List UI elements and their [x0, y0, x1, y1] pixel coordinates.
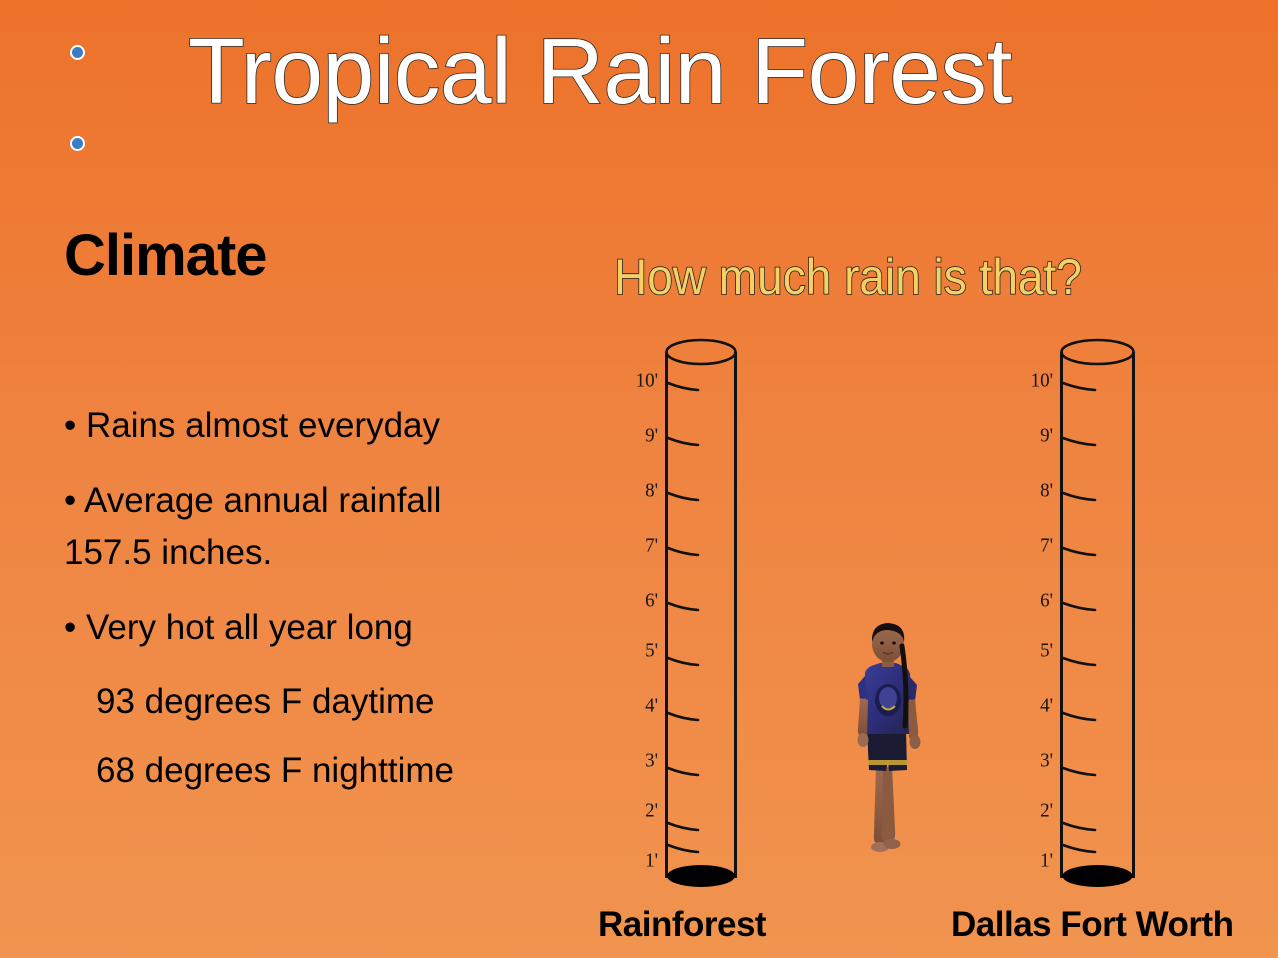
cylinder-graphic	[1060, 338, 1135, 890]
tick-label-10ft: 10'	[620, 369, 658, 392]
tick-label-6ft: 6'	[620, 589, 658, 612]
rainforest-caption: Rainforest	[598, 905, 766, 945]
tick-label-2ft: 2'	[1013, 799, 1053, 822]
tick-label-7ft: 7'	[1013, 534, 1053, 557]
tick-label-6ft: 6'	[1013, 589, 1053, 612]
list-item: • Very hot all year long	[64, 602, 604, 655]
dallas-fort-worth-caption: Dallas Fort Worth	[951, 905, 1234, 945]
tick-label-9ft: 9'	[620, 424, 658, 447]
tick-label-8ft: 8'	[1013, 479, 1053, 502]
rain-question-heading: How much rain is that?	[614, 248, 1082, 306]
slide-tropical-rain-forest: Tropical Rain Forest Climate • Rains alm…	[0, 0, 1278, 958]
climate-bullet-list: • Rains almost everyday • Average annual…	[64, 400, 604, 813]
page-title: Tropical Rain Forest	[188, 22, 1188, 121]
tick-label-4ft: 4'	[1013, 694, 1053, 717]
tick-label-5ft: 5'	[620, 639, 658, 662]
tick-label-10ft: 10'	[1013, 369, 1053, 392]
rainforest-cylinder: 10' 9' 8' 7' 6' 5' 4' 3' 2' 1'	[665, 338, 737, 890]
child-photo	[840, 618, 936, 866]
list-item: • Rains almost everyday	[64, 400, 604, 453]
tick-label-1ft: 1'	[1013, 849, 1053, 872]
tick-label-3ft: 3'	[620, 749, 658, 772]
list-item: 68 degrees F nighttime	[96, 745, 604, 798]
climate-heading: Climate	[64, 222, 267, 289]
tick-label-5ft: 5'	[1013, 639, 1053, 662]
tick-label-2ft: 2'	[620, 799, 658, 822]
title-bullet-icon-2	[70, 136, 85, 151]
tick-label-7ft: 7'	[620, 534, 658, 557]
cylinder-graphic	[665, 338, 737, 890]
tick-label-8ft: 8'	[620, 479, 658, 502]
tick-label-4ft: 4'	[620, 694, 658, 717]
tick-label-3ft: 3'	[1013, 749, 1053, 772]
tick-label-9ft: 9'	[1013, 424, 1053, 447]
list-item: • Average annual rainfall 157.5 inches.	[64, 475, 604, 580]
dallas-fort-worth-cylinder: 10' 9' 8' 7' 6' 5' 4' 3' 2' 1'	[1060, 338, 1135, 890]
title-bullet-icon-1	[70, 45, 85, 60]
tick-label-1ft: 1'	[620, 849, 658, 872]
list-item: 93 degrees F daytime	[96, 676, 604, 729]
